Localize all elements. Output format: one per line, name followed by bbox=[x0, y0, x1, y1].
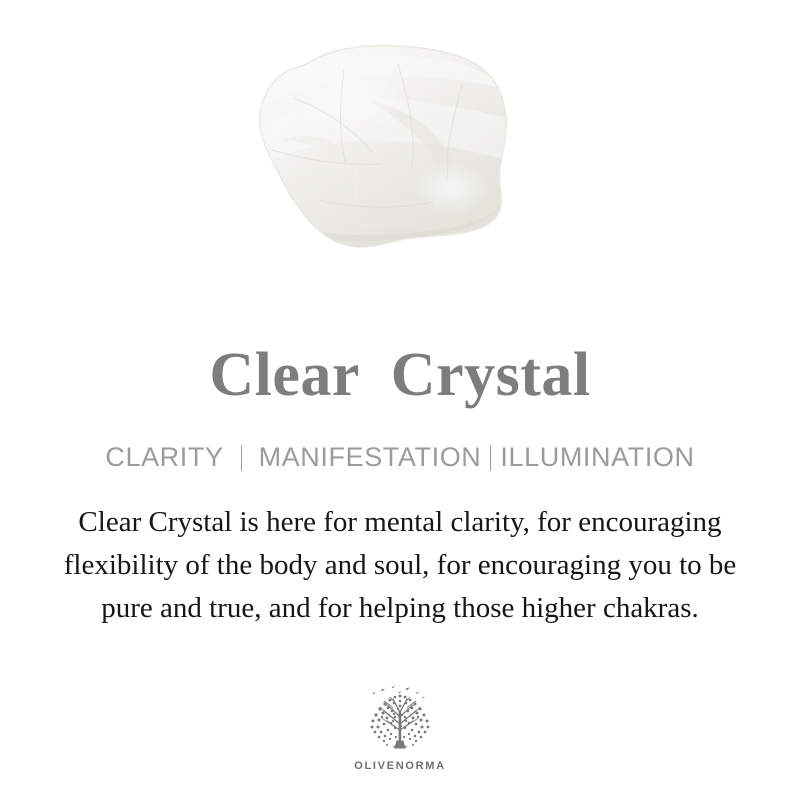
product-description: Clear Crystal is here for mental clarity… bbox=[50, 501, 750, 630]
keyword-separator-icon bbox=[241, 445, 242, 471]
product-info-card: Clear Crystal CLARITY MANIFESTATION ILLU… bbox=[0, 0, 800, 800]
keyword-clarity: CLARITY bbox=[105, 442, 223, 473]
crystal-image bbox=[248, 40, 516, 285]
keyword-separator-icon bbox=[490, 445, 491, 471]
keyword-list: CLARITY MANIFESTATION ILLUMINATION bbox=[105, 442, 694, 473]
brand-name: OLIVENORMA bbox=[354, 760, 446, 772]
keyword-manifestation: MANIFESTATION bbox=[259, 442, 482, 473]
product-image-area bbox=[0, 0, 800, 300]
product-title: Clear Crystal bbox=[209, 344, 590, 406]
tree-with-birds-icon bbox=[358, 684, 442, 758]
keyword-illumination: ILLUMINATION bbox=[500, 442, 694, 473]
brand-logo: OLIVENORMA bbox=[0, 684, 800, 772]
crystal-body bbox=[248, 40, 516, 285]
